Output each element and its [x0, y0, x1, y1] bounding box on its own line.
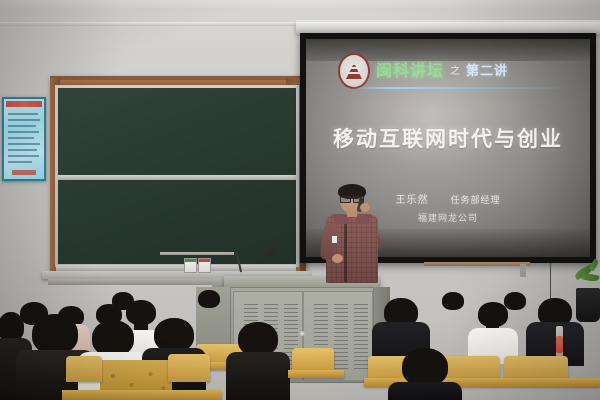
- blackboard-metal-frame: [55, 85, 299, 267]
- blackboard-side-rail: [160, 252, 234, 255]
- poster-footer-bar: [12, 170, 36, 175]
- university-emblem-icon: [338, 53, 370, 89]
- presenter-right-hand: [360, 203, 370, 212]
- presenter-left-hand: [332, 254, 343, 263]
- podium-lock[interactable]: [299, 331, 305, 336]
- student-front-head: [402, 348, 448, 386]
- student-front-head: [238, 322, 278, 356]
- blackboard: [50, 76, 306, 274]
- poster-text-line: [8, 143, 40, 145]
- chalk-box-cap: [199, 259, 210, 262]
- curtain-rail-bracket: [520, 264, 526, 277]
- slide-divider-rule: [352, 87, 572, 89]
- slide-header-connector: 之: [450, 62, 460, 77]
- poster-text-line: [8, 161, 32, 163]
- poster-title-bar: [6, 101, 42, 107]
- poster-text-line: [8, 119, 40, 121]
- poster-text-line: [8, 149, 37, 151]
- poster-text-line: [8, 137, 34, 139]
- poster-text-line: [8, 125, 36, 127]
- desk-backrest: [66, 356, 102, 382]
- student-front-head: [154, 318, 194, 352]
- desk-rail: [288, 370, 344, 378]
- emblem-pagoda-shape: [346, 63, 362, 79]
- curtain-rail: [424, 262, 530, 266]
- slide-speaker-name: 王乐然: [395, 195, 428, 206]
- student-front-body: [226, 352, 290, 400]
- poster-text-line: [8, 131, 39, 133]
- lecture-hall-photo: 闽科讲坛之第二讲 移动互联网时代与创业 王乐然任务部经理 福建网龙公司: [0, 0, 600, 400]
- presenter: [320, 186, 384, 296]
- potted-plant-pot: [576, 288, 600, 322]
- slide-speaker-role: 任务部经理: [450, 195, 500, 205]
- wall-notice-poster: [2, 97, 46, 181]
- slide-header-sub-text: 第二讲: [466, 60, 508, 79]
- student-front-head: [92, 320, 134, 356]
- student-front-body: [388, 382, 462, 400]
- desk-backrest: [168, 354, 210, 382]
- hanging-cable: [550, 263, 551, 299]
- desk-backrest: [504, 356, 568, 380]
- chalk-box-right: [198, 258, 211, 273]
- presenter-shirt-placket: [344, 216, 347, 282]
- student-back-head: [198, 290, 220, 308]
- chalk-box-cap: [185, 259, 196, 262]
- slide-header-main-text: 闽科讲坛: [376, 57, 444, 81]
- presenter-badge: [332, 236, 337, 243]
- chalk-box-left: [184, 258, 197, 273]
- podium-vent: [334, 304, 348, 372]
- blackboard-divider-rail: [58, 175, 296, 180]
- poster-text-line: [8, 113, 38, 115]
- student-back-head: [442, 292, 464, 310]
- desk-backrest: [292, 348, 334, 372]
- student-front-head: [32, 314, 78, 354]
- slide-header: 闽科讲坛之第二讲: [376, 57, 576, 83]
- student-back-head: [504, 292, 526, 310]
- slide-main-title: 移动互联网时代与创业: [306, 123, 590, 153]
- desk-rail: [62, 390, 222, 400]
- water-bottle: [556, 336, 563, 353]
- poster-text-line: [8, 155, 39, 157]
- podium-vent: [354, 304, 368, 372]
